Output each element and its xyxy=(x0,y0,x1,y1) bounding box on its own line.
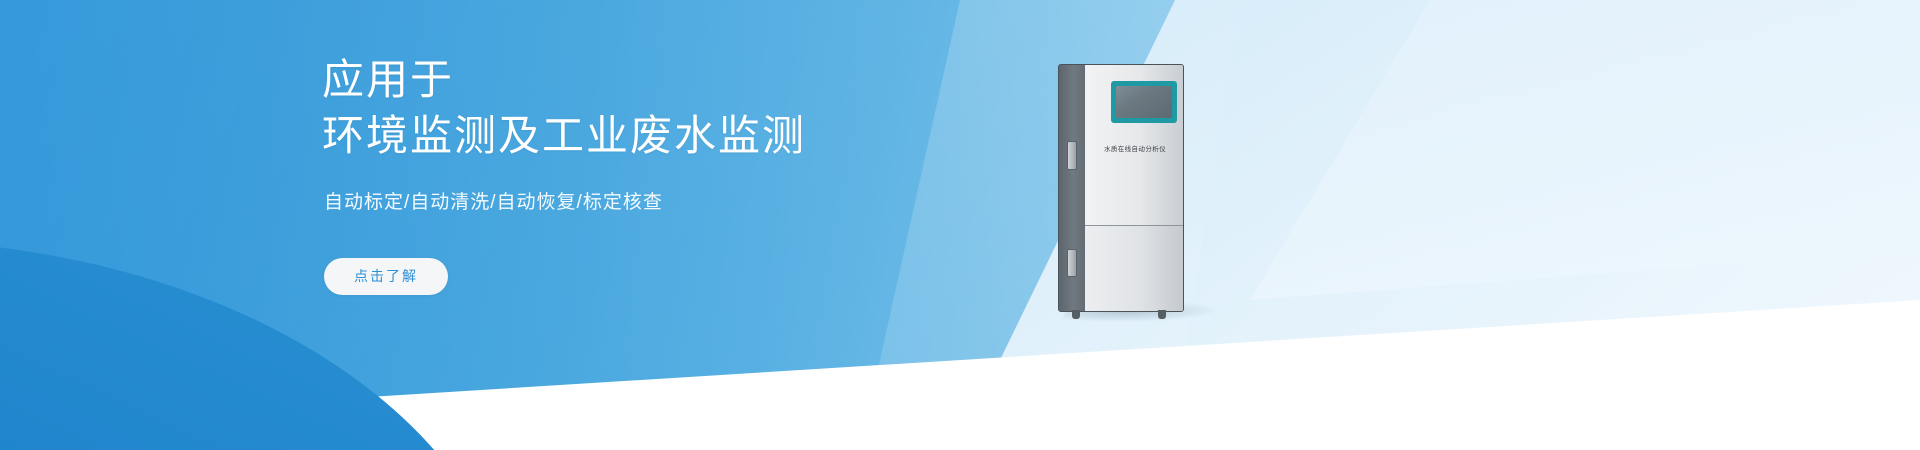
product-name-plate: 水质在线自动分析仪 xyxy=(1089,143,1181,153)
learn-more-button[interactable]: 点击了解 xyxy=(324,258,448,295)
door-handle-icon-upper xyxy=(1067,141,1077,170)
caster-wheel-icon-right xyxy=(1158,310,1166,319)
banner-headline: 应用于 环境监测及工业废水监测 xyxy=(322,52,1022,164)
display-screen-icon xyxy=(1111,81,1177,123)
promo-banner: 应用于 环境监测及工业废水监测 自动标定/自动清洗/自动恢复/标定核查 点击了解… xyxy=(0,0,1920,450)
banner-subtitle: 自动标定/自动清洗/自动恢复/标定核查 xyxy=(324,190,1022,216)
banner-text-block: 应用于 环境监测及工业废水监测 自动标定/自动清洗/自动恢复/标定核查 点击了解 xyxy=(322,52,1022,295)
screen-glass xyxy=(1116,86,1172,118)
headline-line-2: 环境监测及工业废水监测 xyxy=(322,108,1022,164)
caster-wheel-icon-left xyxy=(1072,310,1080,319)
cabinet-lower-door xyxy=(1085,226,1183,311)
headline-line-1: 应用于 xyxy=(322,52,1022,108)
analyzer-cabinet: 水质在线自动分析仪 xyxy=(1058,64,1184,312)
product-image: 水质在线自动分析仪 xyxy=(1058,64,1184,312)
door-handle-icon-lower xyxy=(1067,249,1077,277)
